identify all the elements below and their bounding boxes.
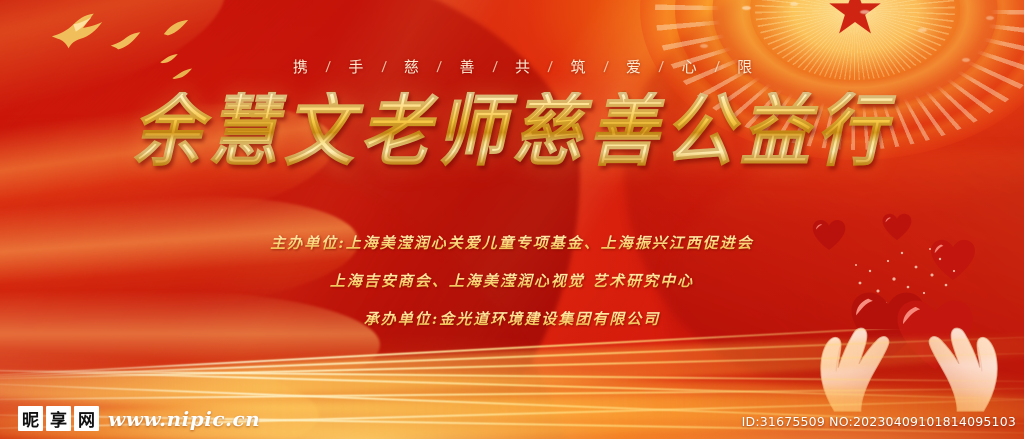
tagline-char: 慈: [402, 56, 426, 77]
bokeh-speck: [860, 10, 870, 14]
dove-icon: [46, 10, 108, 52]
tagline-separator: /: [712, 59, 727, 76]
bokeh-speck: [986, 16, 994, 20]
tagline-separator: /: [434, 59, 449, 76]
watermark-url: www.nipic.cn: [108, 407, 260, 431]
tagline: 携 / 手 / 慈 / 善 / 共 / 筑 / 爱 / 心 / 限: [0, 56, 1024, 77]
tagline-separator: /: [601, 59, 616, 76]
tagline-char: 心: [680, 56, 704, 77]
dove-icon: [160, 14, 192, 42]
bokeh-speck: [700, 44, 708, 48]
logo-char: 享: [46, 406, 71, 431]
floating-heart-icon: [812, 219, 846, 251]
tagline-char: 善: [457, 56, 481, 77]
floating-heart-icon: [882, 213, 912, 241]
tagline-separator: /: [379, 59, 394, 76]
poster-canvas: 携 / 手 / 慈 / 善 / 共 / 筑 / 爱 / 心 / 限 余慧文老师慈…: [0, 0, 1024, 439]
tagline-char: 限: [735, 56, 759, 77]
dove-icon: [108, 30, 146, 56]
tagline-char: 手: [346, 56, 370, 77]
page-title: 余慧文老师慈善公益行: [0, 92, 1024, 170]
logo-char: 网: [74, 406, 99, 431]
site-watermark: 昵 享 网 www.nipic.cn: [18, 406, 260, 431]
tagline-separator: /: [323, 59, 338, 76]
nipic-logo: 昵 享 网: [18, 406, 99, 431]
tagline-char: 携: [291, 56, 315, 77]
image-id-tag: ID:31675509 NO:20230409101814095103: [742, 414, 1016, 429]
logo-char: 昵: [18, 406, 43, 431]
bokeh-speck: [918, 28, 927, 32]
tagline-separator: /: [545, 59, 560, 76]
tagline-separator: /: [656, 59, 671, 76]
tagline-char: 筑: [569, 56, 593, 77]
bokeh-speck: [790, 2, 798, 6]
bokeh-speck: [742, 6, 751, 10]
tagline-char: 共: [513, 56, 537, 77]
tagline-separator: /: [490, 59, 505, 76]
tagline-char: 爱: [624, 56, 648, 77]
